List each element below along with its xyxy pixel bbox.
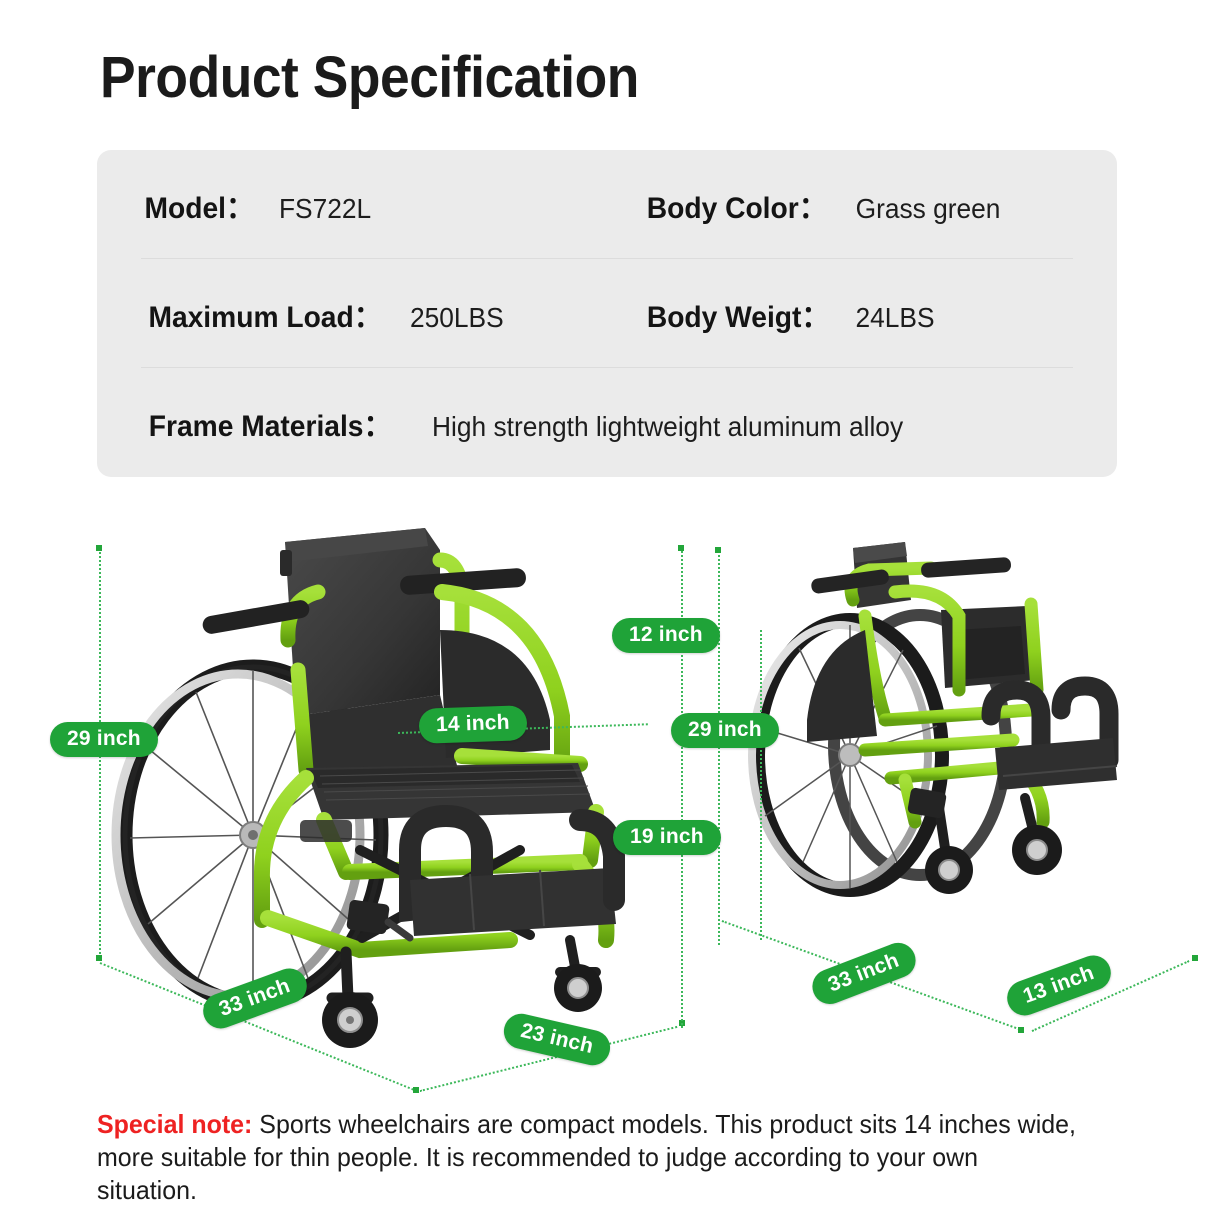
dimline-endpoint: [413, 1087, 419, 1093]
spec-value: High strength lightweight aluminum alloy: [432, 411, 903, 443]
page-title: Product Specification: [100, 48, 639, 109]
armrest-pad-2: [921, 557, 1012, 578]
spec-key: Body Color：: [647, 183, 827, 227]
dimline-right-wheel-height: [760, 630, 762, 940]
spec-key: Maximum Load：: [148, 292, 381, 336]
dimline-endpoint: [96, 955, 102, 961]
wheelchair-folded-view: [745, 530, 1145, 960]
special-note-label: Special note:: [97, 1109, 252, 1139]
spec-key: Model：: [145, 183, 255, 227]
spec-value: 24LBS: [856, 302, 935, 334]
product-specification-page: Product Specification Model： FS722L Body…: [0, 0, 1214, 1214]
caster-fork-b: [1025, 798, 1033, 830]
dimension-badge-seat-depth: 19 inch: [613, 820, 721, 855]
spec-row: Frame Materials： High strength lightweig…: [141, 368, 1073, 477]
spec-cell-maximum-load: Maximum Load： 250LBS: [141, 292, 641, 336]
spec-value: FS722L: [279, 193, 371, 225]
spec-value: Grass green: [855, 193, 1000, 225]
product-illustration: 29 inch 14 inch 33 inch 23 inch 12 inch …: [0, 500, 1214, 1100]
spec-cell-frame-materials: Frame Materials： High strength lightweig…: [141, 401, 1073, 445]
dimline-endpoint: [96, 545, 102, 551]
dimension-badge-seat-width: 14 inch: [418, 705, 527, 744]
dimline-endpoint: [1192, 955, 1198, 961]
dimension-badge-folded-width: 13 inch: [1002, 951, 1115, 1021]
wheelchair-front-view: [110, 520, 670, 1060]
spec-key: Body Weigt：: [647, 292, 830, 336]
dimension-badge-wheel-height: 29 inch: [671, 713, 779, 748]
spec-cell-model: Model： FS722L: [141, 183, 641, 227]
spec-row: Maximum Load： 250LBS Body Weigt： 24LBS: [141, 259, 1073, 368]
dimension-badge-height: 29 inch: [50, 722, 158, 757]
spec-key: Frame Materials：: [149, 401, 392, 445]
dimline-endpoint: [1018, 1027, 1024, 1033]
dimension-badge-folded-height: 12 inch: [612, 618, 720, 653]
spec-row: Model： FS722L Body Color： Grass green: [141, 150, 1073, 259]
spec-cell-body-color: Body Color： Grass green: [641, 183, 1073, 227]
spec-value: 250LBS: [410, 302, 504, 334]
dimline-endpoint: [715, 547, 721, 553]
dimline-endpoint: [678, 545, 684, 551]
special-note: Special note: Sports wheelchairs are com…: [97, 1108, 1076, 1206]
spec-cell-body-weight: Body Weigt： 24LBS: [641, 292, 1073, 336]
spec-table: Model： FS722L Body Color： Grass green Ma…: [97, 150, 1117, 477]
